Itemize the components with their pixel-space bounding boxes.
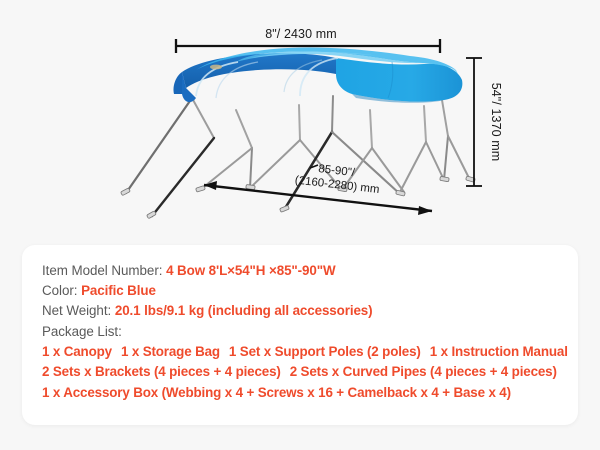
package-item: 2 Sets x Curved Pipes (4 pieces + 4 piec… <box>290 364 557 379</box>
package-item: 2 Sets x Brackets (4 pieces + 4 pieces) <box>42 364 281 379</box>
dimension-height-label: 54"/ 1370 mm <box>489 83 503 162</box>
spec-label-model: Item Model Number: <box>42 263 162 278</box>
spec-value-model: 4 Bow 8'L×54"H ×85"-90"W <box>166 263 335 278</box>
spec-row-color: Color: Pacific Blue <box>42 281 578 301</box>
spec-row-package-label: Package List: <box>42 322 578 342</box>
package-item: 1 x Instruction Manual <box>430 344 568 359</box>
spec-value-weight: 20.1 lbs/9.1 kg (including all accessori… <box>115 303 373 318</box>
package-list-line-3: 1 x Accessory Box (Webbing x 4 + Screws … <box>42 383 578 403</box>
dimension-span-label-line2: (2160-2280) mm <box>294 174 380 196</box>
package-item: 1 x Canopy <box>42 344 112 359</box>
dimension-height-right: 54"/ 1370 mm <box>466 58 503 186</box>
package-list-line-1: 1 x Canopy1 x Storage Bag1 Set x Support… <box>42 342 578 362</box>
package-item: 1 x Accessory Box (Webbing x 4 + Screws … <box>42 385 511 400</box>
package-item: 1 Set x Support Poles (2 poles) <box>229 344 421 359</box>
spec-label-package: Package List: <box>42 324 122 339</box>
spec-label-color: Color: <box>42 283 77 298</box>
bimini-top-diagram-svg: 8"/ 2430 mm 54"/ 1370 mm 85-90"/ (2160-2… <box>0 0 600 238</box>
spec-row-weight: Net Weight: 20.1 lbs/9.1 kg (including a… <box>42 301 578 321</box>
spec-label-weight: Net Weight: <box>42 303 111 318</box>
product-diagram: 8"/ 2430 mm 54"/ 1370 mm 85-90"/ (2160-2… <box>0 0 600 238</box>
dimension-span-diagonal: 85-90"/ (2160-2280) mm <box>204 161 432 215</box>
specification-card: Item Model Number: 4 Bow 8'L×54"H ×85"-9… <box>22 245 578 425</box>
spec-value-color: Pacific Blue <box>81 283 156 298</box>
package-item: 1 x Storage Bag <box>121 344 220 359</box>
frame-legs <box>126 96 470 216</box>
canopy <box>173 47 462 102</box>
package-list-line-2: 2 Sets x Brackets (4 pieces + 4 pieces)2… <box>42 362 578 382</box>
spec-row-model: Item Model Number: 4 Bow 8'L×54"H ×85"-9… <box>42 261 578 281</box>
dimension-width-label: 8"/ 2430 mm <box>265 27 337 41</box>
